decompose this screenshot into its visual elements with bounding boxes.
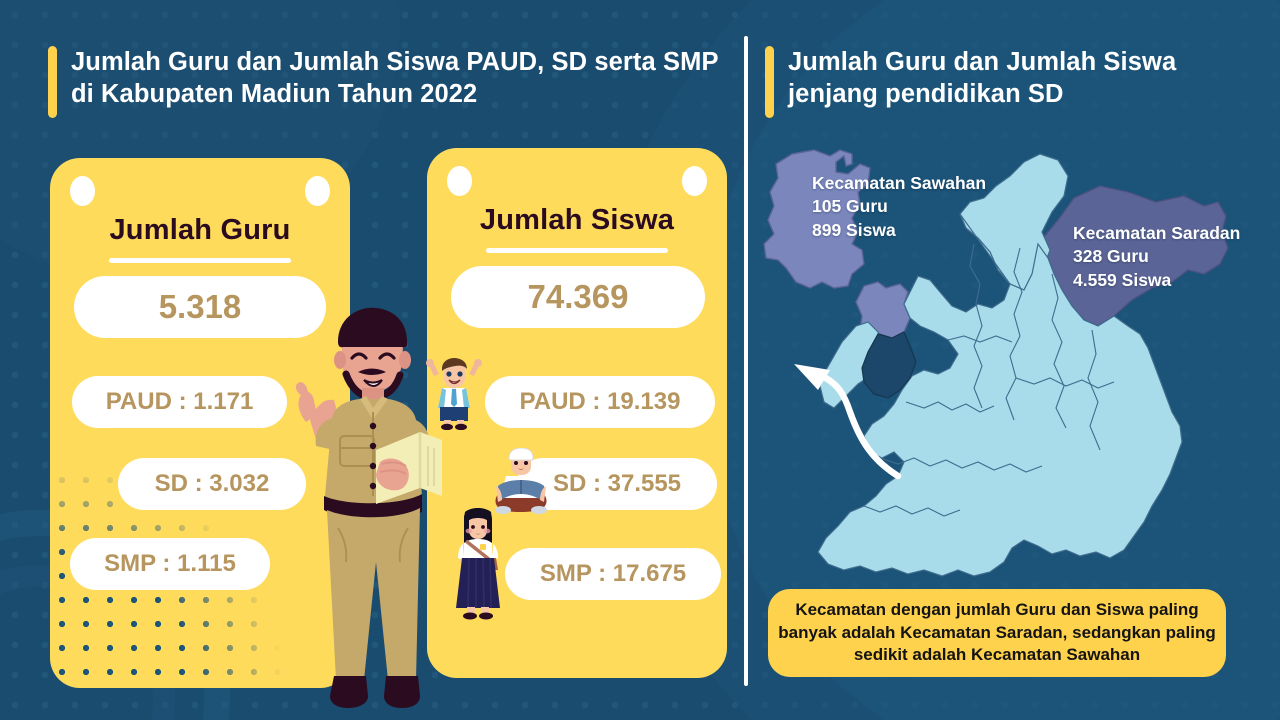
student-smp-illustration-icon <box>448 508 508 620</box>
map-caption-box: Kecamatan dengan jumlah Guru dan Siswa p… <box>768 589 1226 677</box>
right-title-text: Jumlah Guru dan Jumlah Siswa jenjang pen… <box>788 46 1235 111</box>
card-guru-title: Jumlah Guru <box>50 214 350 247</box>
card-guru-underline <box>109 258 291 263</box>
punch-hole-left-icon <box>70 176 95 206</box>
right-title-block: Jumlah Guru dan Jumlah Siswa jenjang pen… <box>765 46 1235 118</box>
map-label-saradan: Kecamatan Saradan 328 Guru 4.559 Siswa <box>1073 222 1240 292</box>
left-title-text: Jumlah Guru dan Jumlah Siswa PAUD, SD se… <box>71 46 738 111</box>
map-caption-text: Kecamatan dengan jumlah Guru dan Siswa p… <box>776 599 1218 667</box>
map-label-saradan-guru: 328 Guru <box>1073 245 1240 268</box>
infographic-canvas: Jumlah Guru dan Jumlah Siswa PAUD, SD se… <box>0 0 1280 720</box>
map-label-sawahan-siswa: 899 Siswa <box>812 219 986 242</box>
student-sd-illustration-icon <box>490 448 552 516</box>
left-title-accent-bar <box>48 46 57 118</box>
card-siswa-underline <box>486 248 668 253</box>
card-guru-row-smp: SMP : 1.115 <box>70 538 270 590</box>
card-siswa-row-smp: SMP : 17.675 <box>505 548 721 600</box>
card-siswa-row-paud: PAUD : 19.139 <box>485 376 715 428</box>
punch-hole-right-icon <box>305 176 330 206</box>
map-label-saradan-name: Kecamatan Saradan <box>1073 222 1240 245</box>
card-siswa-total-value: 74.369 <box>451 266 705 328</box>
student-paud-illustration-icon <box>424 358 484 430</box>
vertical-divider <box>744 36 748 686</box>
map-label-sawahan-name: Kecamatan Sawahan <box>812 172 986 195</box>
right-title-accent-bar <box>765 46 774 118</box>
map-label-saradan-siswa: 4.559 Siswa <box>1073 269 1240 292</box>
card-siswa-title: Jumlah Siswa <box>427 204 727 237</box>
card-guru-row-paud: PAUD : 1.171 <box>72 376 287 428</box>
punch-hole-left-icon <box>447 166 472 196</box>
left-title-block: Jumlah Guru dan Jumlah Siswa PAUD, SD se… <box>48 46 738 118</box>
map-label-sawahan-guru: 105 Guru <box>812 195 986 218</box>
punch-hole-right-icon <box>682 166 707 196</box>
map-label-sawahan: Kecamatan Sawahan 105 Guru 899 Siswa <box>812 172 986 242</box>
